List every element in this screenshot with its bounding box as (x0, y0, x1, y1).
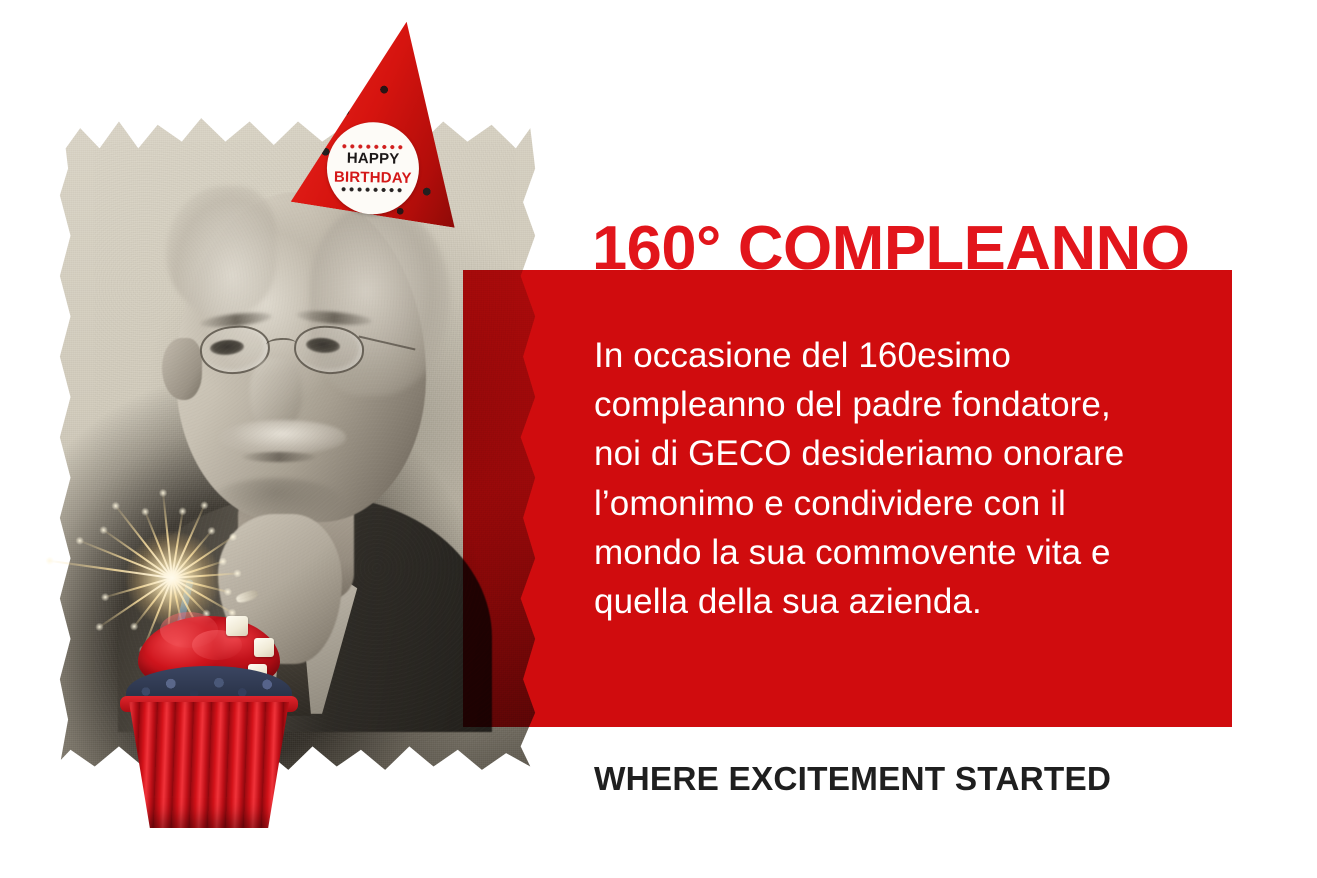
cupcake-wrapper (122, 702, 296, 828)
badge-birthday-text: BIRTHDAY (334, 170, 412, 186)
badge-dot-arc-bottom (342, 187, 404, 193)
cupcake-icon (108, 608, 310, 830)
eyeglass-bridge (266, 337, 297, 351)
badge-dot-arc-top (342, 144, 404, 150)
body-paragraph: In occasione del 160esimo compleanno del… (594, 331, 1154, 626)
tagline: WHERE EXCITEMENT STARTED (594, 760, 1111, 798)
badge-happy-text: HAPPY (347, 151, 400, 167)
party-hat-icon: HAPPY BIRTHDAY (291, 8, 486, 228)
eyeglass-temple-arm (358, 336, 415, 351)
eyeglass-lens-right (292, 324, 365, 377)
marshmallow-cube (226, 616, 248, 636)
marshmallow-cube (254, 638, 274, 657)
portrait-hair-left (166, 186, 276, 314)
poster-canvas: HAPPY BIRTHDAY (0, 0, 1317, 878)
